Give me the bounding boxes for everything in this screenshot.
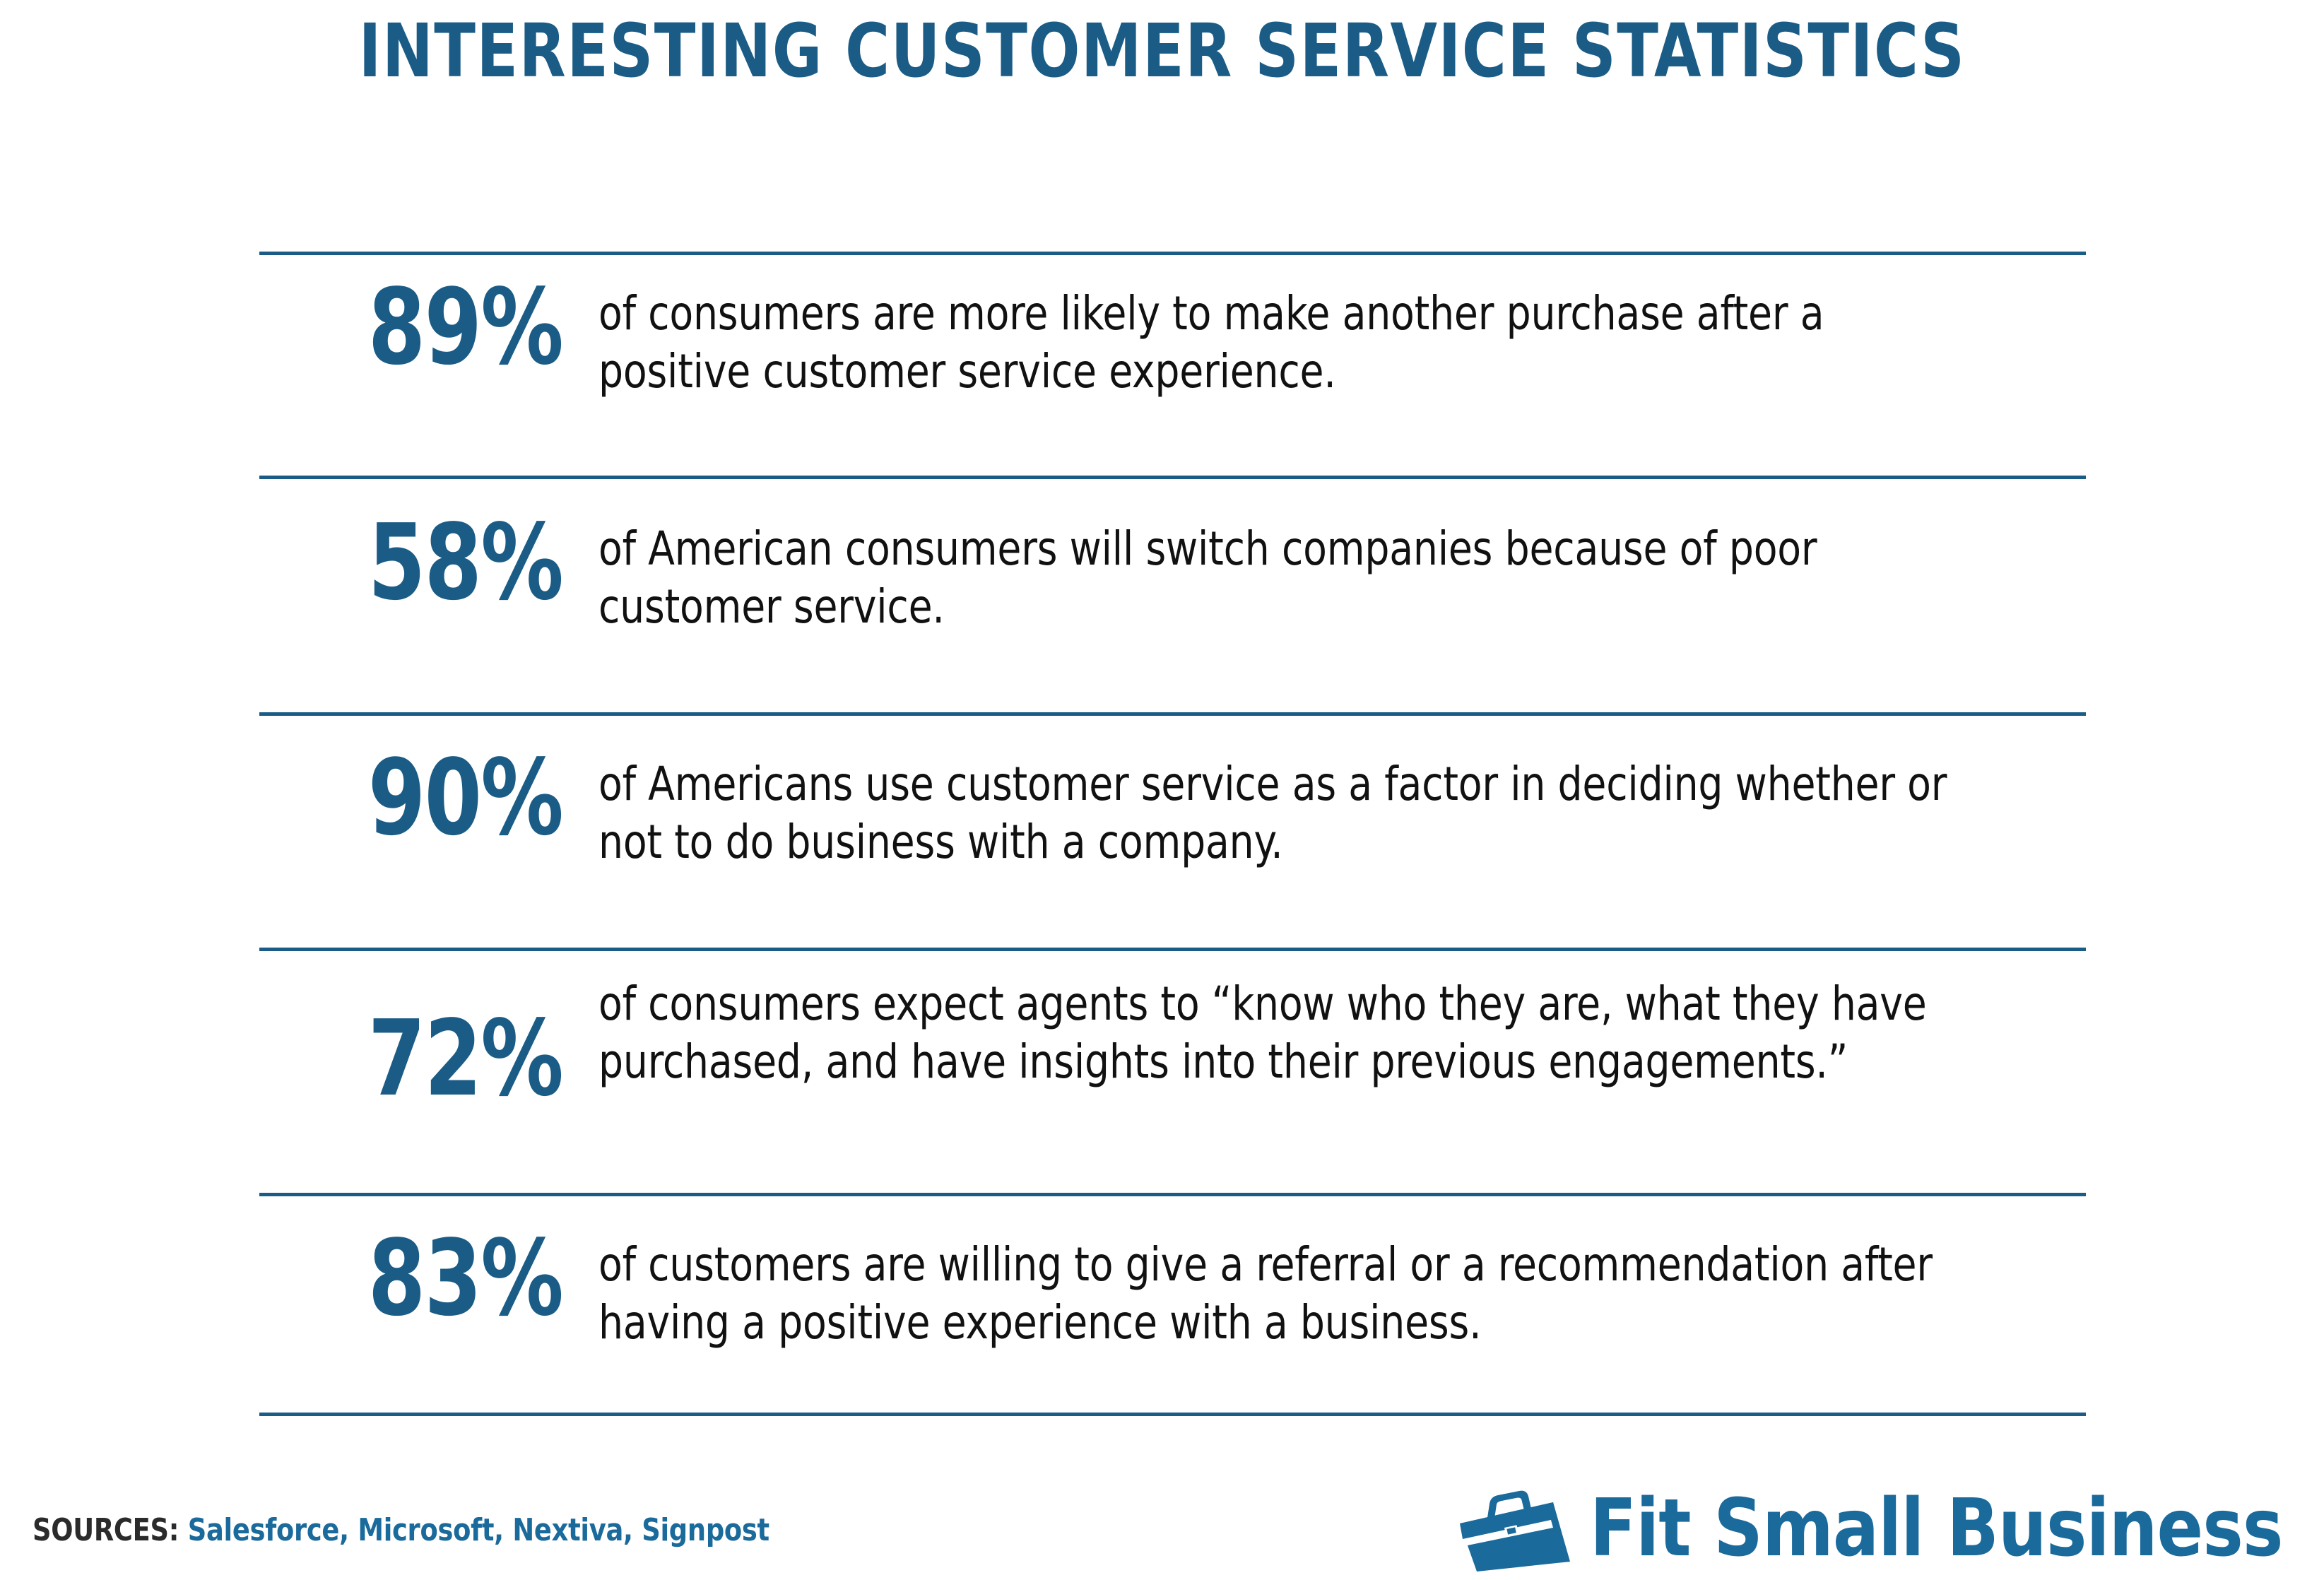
- stat-percent: 90%: [300, 745, 598, 850]
- sources-label: SOURCES:: [33, 1512, 179, 1548]
- footer: SOURCES: Salesforce, Microsoft, Nextiva,…: [0, 1481, 2324, 1580]
- stat-row: 58% of American consumers will switch co…: [259, 479, 2086, 712]
- stat-row: 72% of consumers expect agents to “know …: [259, 951, 2086, 1193]
- stat-percent: 89%: [300, 275, 598, 379]
- sources-list: Salesforce, Microsoft, Nextiva, Signpost: [188, 1512, 769, 1548]
- stat-description: of customers are willing to give a refer…: [598, 1236, 1982, 1352]
- stat-percent: 58%: [300, 510, 598, 615]
- brand-name: Fit Small Business: [1590, 1489, 2282, 1568]
- stat-description: of Americans use customer service as a f…: [598, 755, 1982, 871]
- page-title: INTERESTING CUSTOMER SERVICE STATISTICS: [93, 13, 2231, 90]
- stat-description: of American consumers will switch compan…: [598, 520, 1982, 636]
- brand-logo[interactable]: Fit Small Business: [1458, 1481, 2311, 1580]
- statistics-list: 89% of consumers are more likely to make…: [259, 252, 2086, 1416]
- stat-percent: 83%: [300, 1226, 598, 1331]
- stat-percent: 72%: [300, 1006, 598, 1111]
- divider-bottom: [259, 1413, 2086, 1416]
- stat-row: 83% of customers are willing to give a r…: [259, 1196, 2086, 1413]
- stat-row: 90% of Americans use customer service as…: [259, 716, 2086, 948]
- stat-description: of consumers expect agents to “know who …: [598, 975, 1982, 1091]
- briefcase-icon: [1458, 1487, 1571, 1574]
- stat-row: 89% of consumers are more likely to make…: [259, 255, 2086, 476]
- stat-description: of consumers are more likely to make ano…: [598, 285, 1982, 401]
- sources-line: SOURCES: Salesforce, Microsoft, Nextiva,…: [33, 1512, 769, 1548]
